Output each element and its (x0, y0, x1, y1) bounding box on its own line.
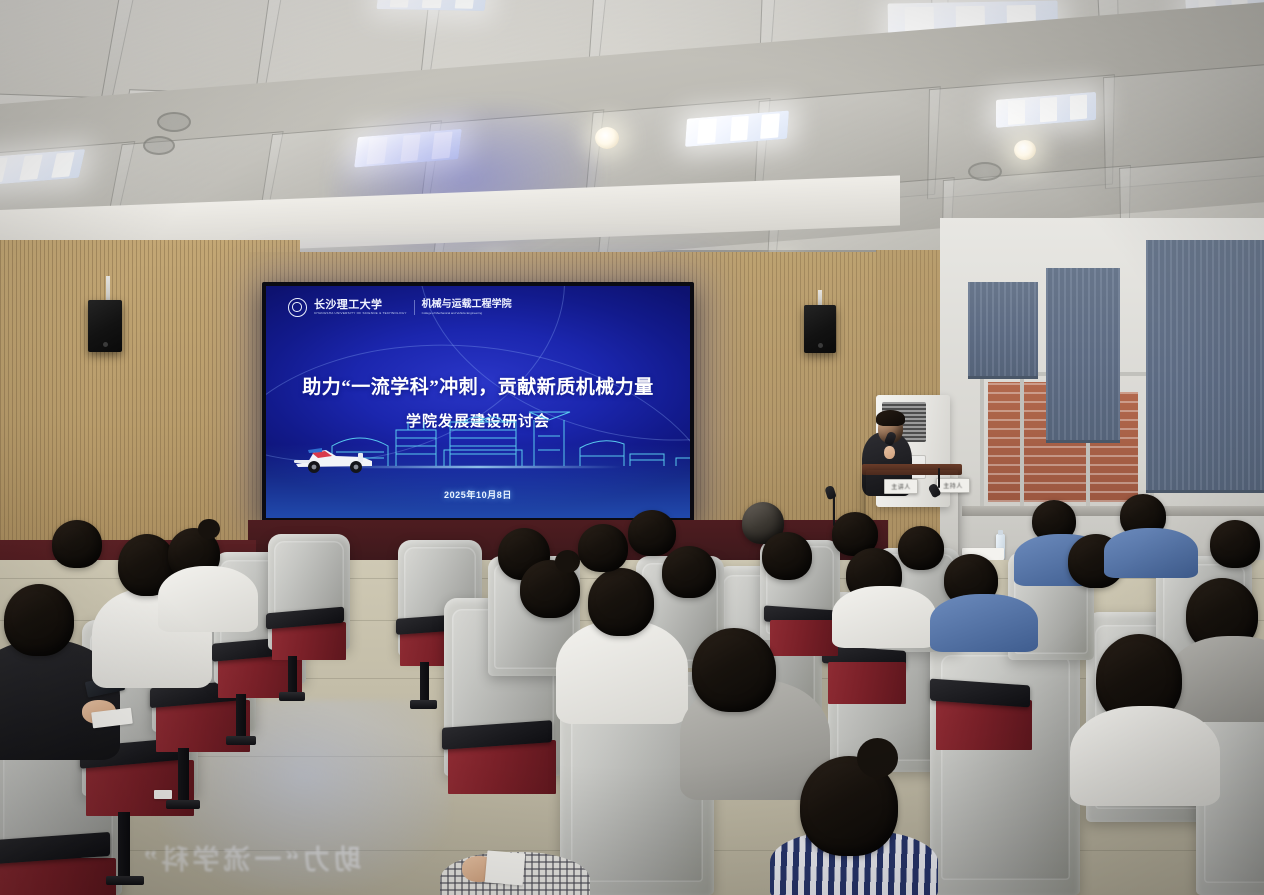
audience-member[interactable] (4, 584, 74, 656)
screen-logo-lockup: 长沙理工大学 CHANGSHA UNIVERSITY OF SCIENCE & … (288, 298, 512, 317)
audience-head (588, 568, 654, 636)
college-name-en: College of Mechanical and Vehicle Engine… (422, 312, 512, 315)
floor-reflection-text: 助力“一流学科” (140, 838, 370, 892)
ceiling-vent (968, 162, 1002, 181)
audience-member[interactable] (692, 628, 776, 712)
audience-head (800, 756, 898, 856)
seat-side-panel (936, 700, 1032, 750)
seat-leg (118, 812, 130, 882)
screen-date: 2025年10月8日 (266, 488, 690, 501)
university-name-cn: 长沙理工大学 (314, 300, 407, 312)
window-frame (1020, 374, 1024, 510)
seat-side-panel (770, 620, 838, 656)
ceiling-vent (143, 136, 175, 155)
wall-speaker-left (88, 300, 122, 352)
audience-head (662, 546, 716, 598)
paper-note (485, 850, 526, 885)
audience-head (898, 526, 944, 570)
audience-shoulders (930, 594, 1038, 652)
led-presentation-screen: 长沙理工大学 CHANGSHA UNIVERSITY OF SCIENCE & … (262, 282, 694, 522)
seat-leg (236, 694, 246, 742)
audience-member[interactable] (52, 520, 102, 568)
audience-member[interactable] (520, 560, 580, 618)
university-emblem-icon (288, 298, 307, 317)
screen-content: 长沙理工大学 CHANGSHA UNIVERSITY OF SCIENCE & … (266, 286, 690, 518)
screen-main-title: 助力“一流学科”冲刺，贡献新质机械力量 (266, 372, 690, 399)
presenter-hair (876, 410, 905, 426)
ceiling-downlight (1014, 140, 1036, 160)
seat-leg (288, 656, 297, 696)
window-blind (1046, 268, 1120, 443)
window-blind (968, 282, 1038, 379)
seat-foot (106, 876, 144, 885)
window-blind (1146, 240, 1264, 493)
nameplate-right-text: 主持人 (943, 481, 963, 490)
audience-member[interactable] (762, 532, 812, 580)
seat-leg (178, 748, 189, 806)
speaker-mount-stem-right (818, 290, 822, 306)
audience-head (578, 524, 628, 572)
nameplate-left-text: 主讲人 (891, 482, 911, 491)
wall-speaker-right (804, 305, 836, 353)
seat-foot (166, 800, 200, 809)
college-name-cn: 机械与运载工程学院 (422, 300, 512, 311)
audience-head (762, 532, 812, 580)
seat-foot (226, 736, 256, 745)
audience-member[interactable] (578, 524, 628, 572)
university-name-en: CHANGSHA UNIVERSITY OF SCIENCE & TECHNOL… (314, 312, 407, 315)
seat-side-panel (0, 858, 116, 895)
ceiling-panel-light (376, 0, 487, 11)
campus-skyline-graphic (324, 402, 690, 466)
audience-shoulders (158, 566, 258, 632)
seat-side-panel (828, 662, 906, 704)
seat-foot (279, 692, 305, 701)
audience-head (52, 520, 102, 568)
audience-head (520, 560, 580, 618)
audience-head (692, 628, 776, 712)
window-frame (980, 374, 984, 510)
audience-shoulders (1104, 528, 1198, 578)
nameplate-right: 主持人 (936, 478, 970, 493)
window-sill (962, 506, 1264, 516)
seat-foot (410, 700, 437, 709)
seat[interactable] (930, 640, 1080, 895)
ceiling-downlight (595, 127, 619, 149)
ceiling-vent (157, 112, 191, 132)
audience-member[interactable] (800, 756, 898, 856)
audience-member[interactable] (898, 526, 944, 570)
formula-race-car-graphic (292, 440, 378, 474)
audience-member[interactable] (1210, 520, 1260, 568)
audience-shoulders (832, 586, 936, 648)
seat-leg (420, 662, 429, 704)
speaker-mount-stem-left (106, 276, 110, 302)
seat-number-tag (154, 790, 172, 799)
audience-head (1210, 520, 1260, 568)
audience-member[interactable] (588, 568, 654, 636)
logo-divider (414, 300, 415, 315)
seat-back (930, 640, 1080, 895)
audience-member[interactable] (662, 546, 716, 598)
presenter-hand (884, 446, 895, 459)
audience-shoulders (1168, 636, 1264, 722)
audience-head (4, 584, 74, 656)
podium-microphone-stand (938, 468, 940, 488)
nameplate-left: 主讲人 (884, 479, 918, 494)
conference-hall-photo: 长沙理工大学 CHANGSHA UNIVERSITY OF SCIENCE & … (0, 0, 1264, 895)
audience-shoulders (1070, 706, 1220, 806)
